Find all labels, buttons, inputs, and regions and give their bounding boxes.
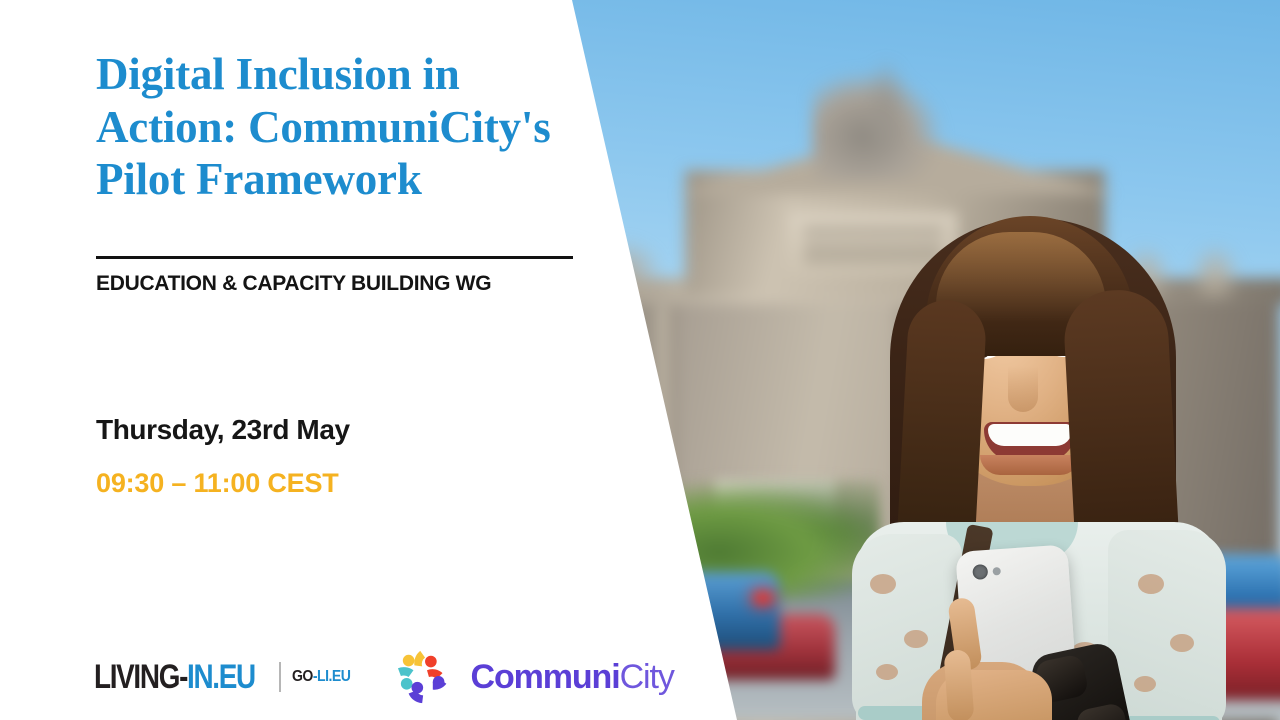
event-time: 09:30 – 11:00 CEST xyxy=(96,468,339,499)
living-in-eu-word-dark: LIVING- xyxy=(94,658,187,696)
communicity-word-bold: Communi xyxy=(470,658,619,696)
communicity-wordmark: CommuniCity xyxy=(470,658,673,697)
logo-separator-divider xyxy=(279,662,281,692)
working-group-label: EDUCATION & CAPACITY BUILDING WG xyxy=(96,272,491,296)
living-in-eu-word-blue: IN.EU xyxy=(187,658,255,696)
content-panel: Digital Inclusion in Action: CommuniCity… xyxy=(0,0,600,720)
go-li-eu-word-dark: GO xyxy=(292,668,313,685)
phone-camera-icon xyxy=(972,564,988,580)
sunglass-lens-2 xyxy=(1075,702,1131,720)
logo-row: LIVING-IN.EU GO-LI.EU xyxy=(94,642,674,712)
monument-crown-statuary-2 xyxy=(862,58,910,163)
sleeve-right xyxy=(1108,530,1226,720)
hero-photo xyxy=(540,0,1280,720)
event-date: Thursday, 23rd May xyxy=(96,414,350,446)
living-in-eu-wordmark: LIVING-IN.EU xyxy=(94,658,255,697)
living-in-eu-logo[interactable]: LIVING-IN.EU GO-LI.EU xyxy=(94,658,358,697)
lower-lip xyxy=(980,455,1080,475)
teeth xyxy=(988,424,1072,446)
sleeve-hem-right xyxy=(1116,716,1220,720)
page-title: Digital Inclusion in Action: CommuniCity… xyxy=(96,48,586,206)
title-divider-rule xyxy=(96,256,573,259)
woman-foreground-subject xyxy=(740,150,1280,720)
event-promo-poster: Digital Inclusion in Action: CommuniCity… xyxy=(0,0,1280,720)
communicity-people-mark-icon xyxy=(396,647,458,707)
nose xyxy=(1008,366,1038,412)
go-li-eu-word-blue: -LI.EU xyxy=(313,668,351,685)
communicity-logo[interactable]: CommuniCity xyxy=(396,647,673,707)
finger-middle xyxy=(944,649,975,720)
go-li-eu-wordmark: GO-LI.EU xyxy=(292,668,350,686)
phone-flash-icon xyxy=(992,567,1001,576)
communicity-word-light: City xyxy=(620,658,674,696)
